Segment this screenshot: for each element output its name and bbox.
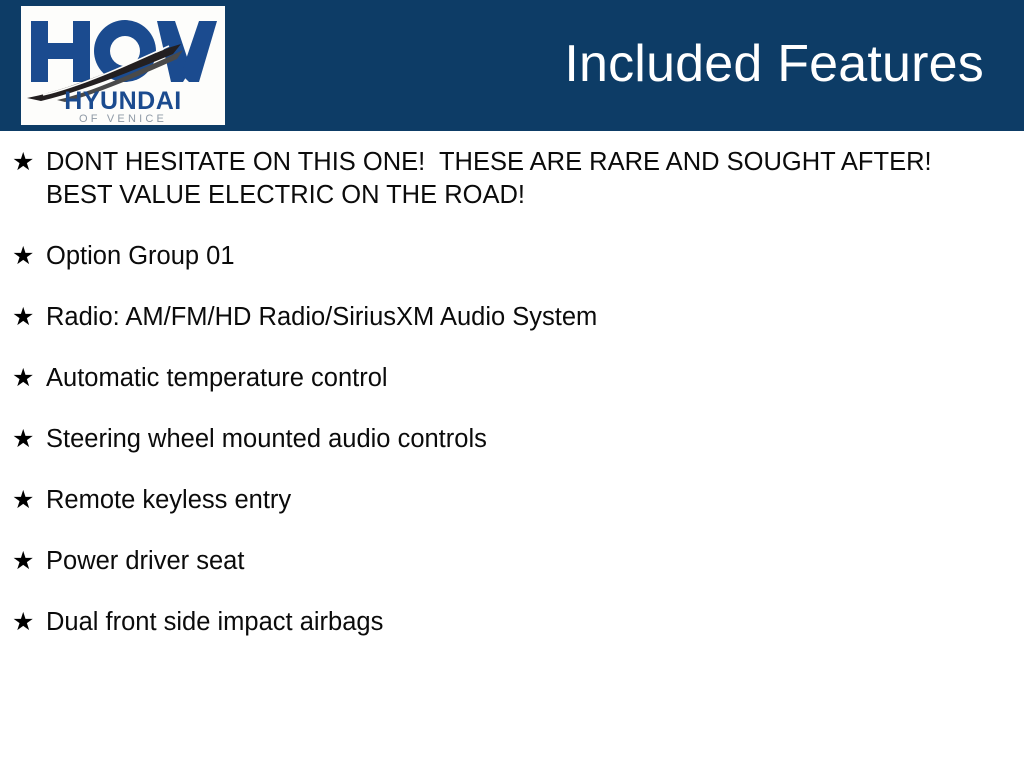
feature-text: Radio: AM/FM/HD Radio/SiriusXM Audio Sys… xyxy=(46,301,936,334)
star-bullet-icon: ★ xyxy=(12,545,46,578)
slide: HYUNDAI OF VENICE Included Features ★ DO… xyxy=(0,0,1024,768)
list-item: ★ Radio: AM/FM/HD Radio/SiriusXM Audio S… xyxy=(0,301,1024,334)
feature-text: Steering wheel mounted audio controls xyxy=(46,423,936,456)
star-bullet-icon: ★ xyxy=(12,301,46,334)
included-features-list: ★ DONT HESITATE ON THIS ONE! THESE ARE R… xyxy=(0,146,1024,639)
list-item: ★ DONT HESITATE ON THIS ONE! THESE ARE R… xyxy=(0,146,1024,212)
star-bullet-icon: ★ xyxy=(12,146,46,179)
list-item: ★ Automatic temperature control xyxy=(0,362,1024,395)
feature-text: Automatic temperature control xyxy=(46,362,936,395)
feature-text: Remote keyless entry xyxy=(46,484,936,517)
star-bullet-icon: ★ xyxy=(12,423,46,456)
star-bullet-icon: ★ xyxy=(12,240,46,273)
star-bullet-icon: ★ xyxy=(12,362,46,395)
logo-tagline-text: OF VENICE xyxy=(79,113,167,125)
list-item: ★ Option Group 01 xyxy=(0,240,1024,273)
logo-brand-text: HYUNDAI xyxy=(64,87,181,115)
dealer-logo: HYUNDAI OF VENICE xyxy=(21,6,225,125)
feature-text: Power driver seat xyxy=(46,545,936,578)
list-item: ★ Dual front side impact airbags xyxy=(0,606,1024,639)
page-title: Included Features xyxy=(564,30,984,98)
list-item: ★ Power driver seat xyxy=(0,545,1024,578)
list-item: ★ Remote keyless entry xyxy=(0,484,1024,517)
feature-text: Dual front side impact airbags xyxy=(46,606,936,639)
hov-logo-graphic: HYUNDAI OF VENICE xyxy=(21,6,225,125)
list-item: ★ Steering wheel mounted audio controls xyxy=(0,423,1024,456)
star-bullet-icon: ★ xyxy=(12,606,46,639)
feature-text: Option Group 01 xyxy=(46,240,936,273)
star-bullet-icon: ★ xyxy=(12,484,46,517)
feature-text: DONT HESITATE ON THIS ONE! THESE ARE RAR… xyxy=(46,146,936,212)
